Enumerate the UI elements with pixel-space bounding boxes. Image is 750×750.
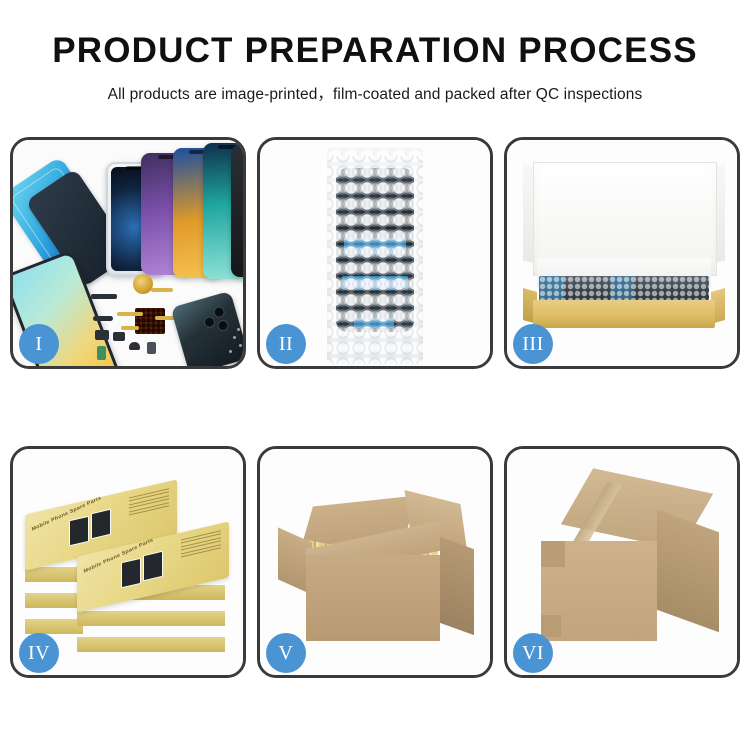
sealed-carton-front — [541, 541, 657, 641]
box-spec-lines-front — [181, 530, 221, 560]
box-spec-lines-rear — [129, 488, 169, 518]
page-subtitle: All products are image-printed，film-coat… — [0, 82, 750, 104]
steps-grid: I II — [10, 137, 740, 678]
inner-box-front-face — [533, 300, 715, 328]
phone-black-edge-icon — [231, 145, 243, 277]
page-title: PRODUCT PREPARATION PROCESS — [0, 33, 750, 68]
step-panel-5: V — [257, 446, 493, 678]
sealed-carton-group — [521, 475, 729, 655]
product-preparation-infographic: PRODUCT PREPARATION PROCESS All products… — [0, 0, 750, 750]
step-panel-3: III — [504, 137, 740, 369]
header: PRODUCT PREPARATION PROCESS All products… — [0, 0, 750, 104]
carton-front-face — [306, 555, 440, 641]
step-badge-1: I — [19, 324, 59, 364]
step-badge-3: III — [513, 324, 553, 364]
step-panel-2: II — [257, 137, 493, 369]
stacked-boxes-group: Mobile Phone Spare Parts Mobile Phone Sp… — [21, 467, 241, 667]
step-badge-2: II — [266, 324, 306, 364]
step-panel-1: I — [10, 137, 246, 369]
step-panel-6: VI — [504, 446, 740, 678]
carton-side-face — [440, 537, 474, 635]
step-panel-4: Mobile Phone Spare Parts Mobile Phone Sp… — [10, 446, 246, 678]
bubble-wrap-texture-back — [327, 156, 423, 364]
spare-parts-group — [91, 272, 241, 366]
step-badge-5: V — [266, 633, 306, 673]
open-carton-group — [272, 479, 484, 651]
phone-back-housing-icon — [171, 291, 243, 366]
step-badge-6: VI — [513, 633, 553, 673]
sealed-carton-side — [657, 510, 719, 633]
step-badge-4: IV — [19, 633, 59, 673]
speaker-coil-icon — [133, 274, 153, 294]
